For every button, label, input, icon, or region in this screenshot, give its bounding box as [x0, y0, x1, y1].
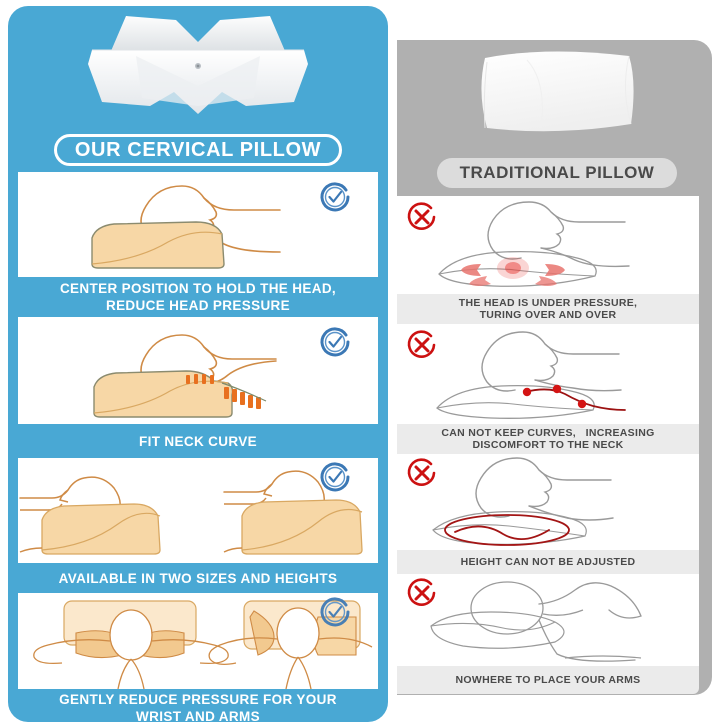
comparison-infographic: OUR CERVICAL PILLOW — [0, 0, 720, 728]
traditional-pillow-hero-image — [397, 40, 712, 152]
traditional-card-1-illustration — [397, 196, 699, 294]
traditional-card-2-caption: CAN NOT KEEP CURVES, INCREASING DISCOMFO… — [397, 424, 699, 454]
check-circle-icon — [318, 595, 352, 629]
traditional-pillow-header-label: TRADITIONAL PILLOW — [460, 163, 655, 183]
our-card-1-caption: CENTER POSITION TO HOLD THE HEAD, REDUCE… — [18, 277, 378, 317]
traditional-card-4 — [397, 574, 699, 666]
traditional-card-2-illustration — [397, 324, 699, 424]
cross-circle-icon — [405, 328, 439, 362]
our-card-2-caption: FIT NECK CURVE — [18, 424, 378, 458]
our-pillow-header-badge: OUR CERVICAL PILLOW — [54, 134, 342, 166]
our-pillow-panel: OUR CERVICAL PILLOW — [8, 6, 388, 722]
our-card-1 — [18, 172, 378, 277]
traditional-card-1 — [397, 196, 699, 294]
traditional-card-4-caption: NOWHERE TO PLACE YOUR ARMS — [397, 666, 699, 694]
our-card-4-caption: GENTLY REDUCE PRESSURE FOR YOUR WRIST AN… — [18, 689, 378, 727]
cross-circle-icon — [405, 456, 439, 490]
our-pillow-hero-image — [8, 6, 388, 126]
traditional-card-1-caption: THE HEAD IS UNDER PRESSURE, TURING OVER … — [397, 294, 699, 324]
check-circle-icon — [318, 325, 352, 359]
check-circle-icon — [318, 460, 352, 494]
cross-circle-icon — [405, 576, 439, 610]
traditional-pillow-header-badge: TRADITIONAL PILLOW — [437, 158, 677, 188]
our-card-4 — [18, 593, 378, 689]
our-card-3-caption: AVAILABLE IN TWO SIZES AND HEIGHTS — [18, 563, 378, 593]
traditional-card-3-illustration — [397, 454, 699, 550]
check-circle-icon — [318, 180, 352, 214]
cross-circle-icon — [405, 200, 439, 234]
traditional-card-2 — [397, 324, 699, 424]
our-card-3 — [18, 458, 378, 563]
our-card-2 — [18, 317, 378, 424]
traditional-card-3 — [397, 454, 699, 550]
traditional-card-4-illustration — [397, 574, 699, 666]
traditional-card-3-caption: HEIGHT CAN NOT BE ADJUSTED — [397, 550, 699, 574]
our-pillow-header-label: OUR CERVICAL PILLOW — [75, 139, 321, 162]
traditional-pillow-panel: TRADITIONAL PILLOW — [397, 40, 712, 695]
